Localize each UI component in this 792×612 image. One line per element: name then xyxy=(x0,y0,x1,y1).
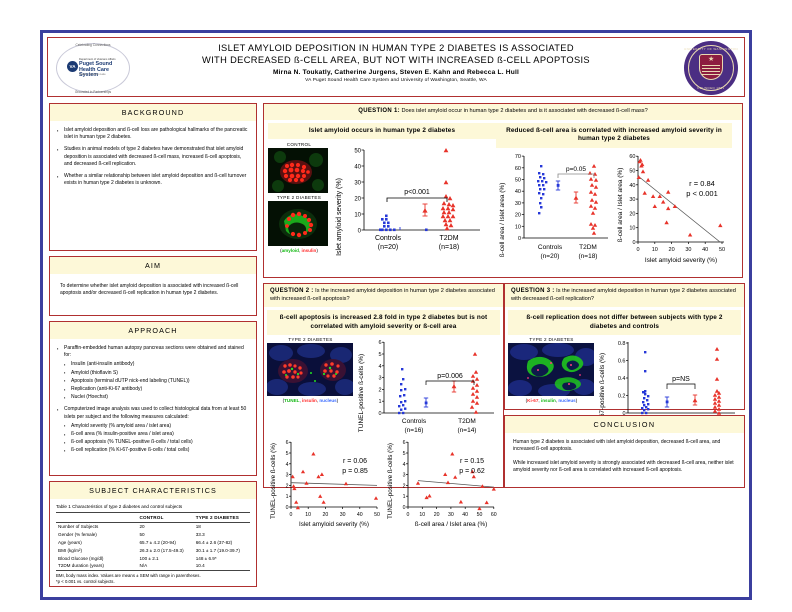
question1-left: Islet amyloid occurs in human type 2 dia… xyxy=(268,123,496,268)
background-bullet-3: Whether a similar relationship between i… xyxy=(57,173,249,187)
subjects-r1-c0: Gender (% female) xyxy=(56,531,137,539)
va-logo-top-text: Celebrating Connections xyxy=(54,43,132,47)
question3-heading: QUESTION 3 : Is the increased amyloid de… xyxy=(505,284,744,307)
question1-right: Reduced ß-cell area is correlated with i… xyxy=(496,123,732,268)
poster-affiliation: VA Puget Sound Health Care System and Un… xyxy=(138,78,654,83)
svg-text:0: 0 xyxy=(358,229,362,235)
va-seal-icon: VA xyxy=(67,61,78,72)
legend-insulin: insulin xyxy=(302,248,317,253)
svg-text:ß-cell area / Islet area (%): ß-cell area / Islet area (%) xyxy=(499,182,506,257)
svg-text:1: 1 xyxy=(286,494,289,500)
poster-authors: Mirna N. Toukatly, Catherine Jurgens, St… xyxy=(138,69,654,76)
chart-bcell-area-svg: ß-cell area / Islet area (%) 01020 30405… xyxy=(496,150,614,268)
approach-bullet-2: Computerized image analysis was used to … xyxy=(57,406,249,454)
svg-text:p=NS: p=NS xyxy=(672,376,690,383)
svg-text:TUNEL-positive ß-cells (%): TUNEL-positive ß-cells (%) xyxy=(358,354,365,432)
svg-text:0.6: 0.6 xyxy=(618,359,626,365)
chart-tunel-vs-amyloid: TUNEL-positive ß-cells (%) 012 3456 xyxy=(267,437,384,529)
svg-text:5: 5 xyxy=(402,451,405,457)
tunel-micrograph-label: TYPE 2 DIABETES xyxy=(267,337,354,342)
svg-text:2: 2 xyxy=(402,483,405,489)
svg-text:30: 30 xyxy=(448,512,454,518)
svg-text:5: 5 xyxy=(286,451,289,457)
subjects-r5-c0: T2DM duration (years) xyxy=(56,562,137,570)
svg-text:p = 0.62: p = 0.62 xyxy=(459,468,485,475)
svg-text:TUNEL-positive ß-cells (%): TUNEL-positive ß-cells (%) xyxy=(270,443,277,519)
chart-amyloid-vs-bcellarea: ß-cell area / Islet area (%) 01020 30405… xyxy=(614,150,730,268)
subjects-r4-c2: 148 ± 6.9* xyxy=(194,554,250,562)
svg-text:r = 0.15: r = 0.15 xyxy=(460,458,484,465)
svg-text:40: 40 xyxy=(629,182,635,188)
subjects-r5-c2: 10.4 xyxy=(194,562,250,570)
svg-text:70: 70 xyxy=(515,154,521,160)
subjects-footnote-2: parentheses. xyxy=(176,573,201,578)
background-body: Islet amyloid deposition and ß-cell loss… xyxy=(50,121,256,198)
question1-legend: (amyloid, insulin) xyxy=(268,248,330,253)
svg-text:50: 50 xyxy=(515,177,521,183)
subjects-footnote-3: *p < 0.001 vs. control subjects. xyxy=(56,579,115,584)
svg-text:20: 20 xyxy=(629,211,635,217)
svg-text:0.4: 0.4 xyxy=(618,376,626,382)
subjects-heading: SUBJECT CHARACTERISTICS xyxy=(50,482,256,499)
question2-label: QUESTION 2 : xyxy=(270,288,314,294)
svg-text:3: 3 xyxy=(378,376,381,382)
svg-text:60: 60 xyxy=(490,512,496,518)
subject-characteristics-panel: SUBJECT CHARACTERISTICS Table 1 Characte… xyxy=(49,481,257,587)
table-row: Gender (% female) 50 33.3 xyxy=(56,531,250,539)
approach-measure-2: ß-cell area (% insulin-positive area / i… xyxy=(64,431,249,438)
background-bullet-1: Islet amyloid deposition and ß-cell loss… xyxy=(57,127,249,141)
svg-text:20: 20 xyxy=(354,197,361,203)
approach-bullet-1-text: Paraffin-embedded human autopsy pancreas… xyxy=(64,345,244,358)
svg-text:3: 3 xyxy=(402,473,405,479)
uw-logo: UNIVERSITY OF WASHINGTON ★ FOUNDED 1861 xyxy=(684,41,738,95)
t2d-micrograph-image xyxy=(268,201,328,246)
uw-shield-bars-icon xyxy=(702,65,720,77)
svg-text:20: 20 xyxy=(515,212,521,218)
svg-text:(n=18): (n=18) xyxy=(439,244,459,251)
chart-tunel-vs-bcellarea: TUNEL-positive ß-cells (%) 012 3456 xyxy=(384,437,501,529)
svg-text:2: 2 xyxy=(378,387,381,393)
svg-text:Islet amyloid severity (%): Islet amyloid severity (%) xyxy=(336,178,343,256)
svg-text:4: 4 xyxy=(378,364,381,370)
svg-text:0: 0 xyxy=(636,247,639,253)
control-micrograph-label: CONTROL xyxy=(268,142,330,147)
question3-legend: (Ki-67, insulin, nucleus) xyxy=(508,398,595,403)
svg-text:2: 2 xyxy=(286,483,289,489)
question1-text: Does islet amyloid occur in human type 2… xyxy=(401,108,647,114)
table-row: Blood Glucose (mg/dl) 100 ± 2.1 148 ± 6.… xyxy=(56,554,250,562)
svg-text:0: 0 xyxy=(402,505,405,511)
va-logo-name: Puget SoundHealth Care System xyxy=(79,62,120,79)
svg-text:10: 10 xyxy=(305,512,311,518)
left-column: BACKGROUND Islet amyloid deposition and … xyxy=(49,103,257,591)
conclusion-paragraph-1: Human type 2 diabetes is associated with… xyxy=(513,439,736,453)
subjects-col-2: TYPE 2 DIABETES xyxy=(194,513,250,523)
q2-legend-tunel: TUNEL xyxy=(284,398,299,403)
svg-text:0: 0 xyxy=(286,505,289,511)
table-row: BMI (kg/m²) 26.3 ± 2.0 (17.5-49.3) 30.1 … xyxy=(56,546,250,554)
approach-measure-1: Amyloid severity (% amyloid area / islet… xyxy=(64,423,249,430)
svg-text:4: 4 xyxy=(286,462,289,468)
control-micrograph-image xyxy=(268,148,328,193)
subjects-r0-c0: Number of Subjects xyxy=(56,523,137,531)
q3-legend-ki67: Ki-67 xyxy=(527,398,538,403)
svg-text:Islet amyloid severity (%): Islet amyloid severity (%) xyxy=(645,257,717,264)
subjects-r0-c1: 20 xyxy=(137,523,193,531)
chart-amyloid-severity: Islet amyloid severity (%) 0 10 20 30 40 xyxy=(330,142,490,257)
approach-stain-2: Amyloid (thioflavin S) xyxy=(64,370,249,377)
svg-text:30: 30 xyxy=(629,197,635,203)
question3-column: QUESTION 3 : Is the increased amyloid de… xyxy=(504,283,745,488)
subjects-footnote-1: BMI, body mass index. Values are means ±… xyxy=(56,573,175,578)
svg-text:40: 40 xyxy=(702,247,708,253)
svg-text:Controls: Controls xyxy=(375,235,402,242)
svg-text:30: 30 xyxy=(685,247,691,253)
question3-panel: QUESTION 3 : Is the increased amyloid de… xyxy=(504,283,745,410)
approach-measure-3: ß-cell apoptosis (% TUNEL-positive ß-cel… xyxy=(64,439,249,446)
approach-heading: APPROACH xyxy=(50,322,256,339)
subjects-r4-c0: Blood Glucose (mg/dl) xyxy=(56,554,137,562)
svg-text:5: 5 xyxy=(378,352,381,358)
table-row: Age (years) 65.7 ± 4.2 (20-94) 66.4 ± 2.… xyxy=(56,539,250,547)
subjects-r0-c2: 18 xyxy=(194,523,250,531)
question1-left-figures: CONTROL xyxy=(268,142,496,257)
svg-text:10: 10 xyxy=(629,225,635,231)
question2-bottom-row: TUNEL-positive ß-cells (%) 012 3456 xyxy=(264,437,503,529)
question2-legend: (TUNEL, insulin, nucleus) xyxy=(267,398,354,403)
svg-text:50: 50 xyxy=(719,247,725,253)
svg-text:10: 10 xyxy=(419,512,425,518)
subjects-r3-c2: 30.1 ± 1.7 (19.0-39.7) xyxy=(194,546,250,554)
question2-top-row: TYPE 2 DIABETES xyxy=(264,335,503,437)
ki67-micrograph-label: TYPE 2 DIABETES xyxy=(508,337,595,342)
question1-panel: QUESTION 1: Does islet amyloid occur in … xyxy=(263,103,743,278)
svg-text:0: 0 xyxy=(518,236,521,242)
subjects-r1-c1: 50 xyxy=(137,531,193,539)
conclusion-panel: CONCLUSION Human type 2 diabetes is asso… xyxy=(504,415,745,488)
question2-micrograph-block: TYPE 2 DIABETES xyxy=(267,337,354,437)
q2-legend-nucleus: nucleus xyxy=(319,398,336,403)
svg-text:0: 0 xyxy=(406,512,409,518)
aim-heading: AIM xyxy=(50,257,256,274)
svg-text:0: 0 xyxy=(378,411,381,417)
svg-text:50: 50 xyxy=(629,168,635,174)
svg-text:30: 30 xyxy=(354,181,361,187)
subjects-caption: Table 1 Characteristics of type 2 diabet… xyxy=(50,499,256,512)
table-header-row: CONTROL TYPE 2 DIABETES xyxy=(56,513,250,523)
svg-text:Controls: Controls xyxy=(402,418,427,425)
poster-title-block: ISLET AMYLOID DEPOSITION IN HUMAN TYPE 2… xyxy=(138,43,654,83)
svg-text:Islet amyloid severity (%): Islet amyloid severity (%) xyxy=(299,521,369,528)
background-bullet-2: Studies in animal models of type 2 diabe… xyxy=(57,146,249,168)
q3-legend-close: ) xyxy=(576,398,578,403)
tunel-micrograph-image xyxy=(267,343,353,396)
svg-text:p=0.05: p=0.05 xyxy=(566,166,586,173)
subjects-r1-c2: 33.3 xyxy=(194,531,250,539)
question3-subhead: ß-cell replication does not differ betwe… xyxy=(508,310,741,335)
subjects-r2-c1: 65.7 ± 4.2 (20-94) xyxy=(137,539,193,547)
svg-text:r = 0.06: r = 0.06 xyxy=(343,458,367,465)
svg-text:ß-cell area / Islet area (%): ß-cell area / Islet area (%) xyxy=(617,167,624,242)
svg-text:6: 6 xyxy=(402,440,405,446)
q2-legend-close: ) xyxy=(337,398,339,403)
uw-star-icon: ★ xyxy=(708,56,714,63)
svg-text:(n=20): (n=20) xyxy=(541,253,560,260)
background-heading: BACKGROUND xyxy=(50,104,256,121)
question2-subhead: ß-cell apoptosis is increased 2.8 fold i… xyxy=(267,310,500,335)
subjects-footnote: BMI, body mass index. Values are means ±… xyxy=(50,571,256,590)
svg-text:40: 40 xyxy=(515,189,521,195)
poster-title-line1: ISLET AMYLOID DEPOSITION IN HUMAN TYPE 2… xyxy=(138,43,654,55)
questions-2-3-row: QUESTION 2 : Is the increased amyloid de… xyxy=(263,283,743,488)
svg-text:(n=14): (n=14) xyxy=(457,427,476,434)
svg-text:p = 0.85: p = 0.85 xyxy=(342,468,368,475)
aim-text: To determine whether islet amyloid depos… xyxy=(50,274,256,306)
conclusion-body: Human type 2 diabetes is associated with… xyxy=(505,433,744,487)
subjects-col-1: CONTROL xyxy=(137,513,193,523)
svg-text:10: 10 xyxy=(652,247,658,253)
svg-text:3: 3 xyxy=(286,473,289,479)
svg-text:ß-cell area / Islet area (%): ß-cell area / Islet area (%) xyxy=(414,521,486,528)
q2-legend-insulin: insulin xyxy=(302,398,317,403)
chart-tunel-vs-bcellarea-svg: TUNEL-positive ß-cells (%) 012 3456 xyxy=(384,437,500,529)
svg-text:60: 60 xyxy=(629,154,635,160)
svg-text:20: 20 xyxy=(323,512,329,518)
subjects-r2-c0: Age (years) xyxy=(56,539,137,547)
svg-text:TUNEL-positive ß-cells (%): TUNEL-positive ß-cells (%) xyxy=(387,443,394,519)
question1-content: Islet amyloid occurs in human type 2 dia… xyxy=(264,120,742,268)
question2-heading: QUESTION 2 : Is the increased amyloid de… xyxy=(264,284,503,307)
uw-logo-ring-bottom: FOUNDED 1861 xyxy=(684,86,738,90)
question1-micrographs: CONTROL xyxy=(268,142,330,257)
right-column: QUESTION 1: Does islet amyloid occur in … xyxy=(263,103,743,591)
question2-panel: QUESTION 2 : Is the increased amyloid de… xyxy=(263,283,504,488)
approach-stain-5: Nuclei (Hoechst) xyxy=(64,394,249,401)
table-row: Number of Subjects 20 18 xyxy=(56,523,250,531)
svg-text:T2DM: T2DM xyxy=(579,244,597,251)
svg-text:40: 40 xyxy=(357,512,363,518)
question1-right-subhead: Reduced ß-cell area is correlated with i… xyxy=(496,123,732,148)
svg-text:6: 6 xyxy=(286,440,289,446)
svg-text:60: 60 xyxy=(515,165,521,171)
approach-body: Paraffin-embedded human autopsy pancreas… xyxy=(50,339,256,466)
approach-stain-4: Replication (anti-Ki-67 antibody) xyxy=(64,386,249,393)
poster-canvas: Celebrating Connections Grounded in Part… xyxy=(40,30,752,600)
svg-text:0: 0 xyxy=(632,240,635,246)
chart-amyloid-severity-svg: Islet amyloid severity (%) 0 10 20 30 40 xyxy=(330,142,490,257)
svg-text:50: 50 xyxy=(354,149,361,155)
svg-text:r = 0.84: r = 0.84 xyxy=(689,179,715,188)
subjects-r4-c1: 100 ± 2.1 xyxy=(137,554,193,562)
question1-heading: QUESTION 1: Does islet amyloid occur in … xyxy=(264,104,742,120)
svg-text:50: 50 xyxy=(476,512,482,518)
chart-tunel-vs-amyloid-svg: TUNEL-positive ß-cells (%) 012 3456 xyxy=(267,437,383,529)
question1-right-figures: ß-cell area / Islet area (%) 01020 30405… xyxy=(496,150,732,268)
svg-text:p=0.006: p=0.006 xyxy=(437,373,463,380)
uw-logo-ring-top: UNIVERSITY OF WASHINGTON xyxy=(684,47,738,51)
svg-text:0.8: 0.8 xyxy=(618,341,626,347)
question1-left-subhead: Islet amyloid occurs in human type 2 dia… xyxy=(268,123,496,140)
conclusion-heading: CONCLUSION xyxy=(505,416,744,433)
ki67-micrograph-image xyxy=(508,343,594,396)
svg-text:6: 6 xyxy=(378,340,381,346)
svg-text:(n=16): (n=16) xyxy=(404,427,423,434)
chart-tunel-dot-svg: TUNEL-positive ß-cells (%) 012 3456 xyxy=(354,337,500,437)
approach-stain-3: Apoptosis (terminal dUTP nick-end labeli… xyxy=(64,378,249,385)
subjects-table: CONTROL TYPE 2 DIABETES Number of Subjec… xyxy=(56,512,250,571)
subjects-r2-c2: 66.4 ± 2.6 (37-82) xyxy=(194,539,250,547)
conclusion-paragraph-2: While increased islet amyloid severity i… xyxy=(513,460,736,474)
svg-text:4: 4 xyxy=(402,462,405,468)
svg-text:10: 10 xyxy=(515,224,521,230)
svg-text:p < 0.001: p < 0.001 xyxy=(686,189,718,198)
svg-text:50: 50 xyxy=(374,512,380,518)
svg-text:p<0.001: p<0.001 xyxy=(404,189,430,196)
q3-legend-insulin: insulin xyxy=(541,398,556,403)
legend-close-paren: ) xyxy=(316,248,318,253)
legend-amyloid: amyloid xyxy=(282,248,299,253)
svg-text:T2DM: T2DM xyxy=(458,418,476,425)
t2d-micrograph-label: TYPE 2 DIABETES xyxy=(268,195,330,200)
table-row: T2DM duration (years) N/A 10.4 xyxy=(56,562,250,570)
subjects-r5-c1: N/A xyxy=(137,562,193,570)
poster-header: Celebrating Connections Grounded in Part… xyxy=(47,37,745,97)
subjects-col-0 xyxy=(56,513,137,523)
chart-tunel-dot: TUNEL-positive ß-cells (%) 012 3456 xyxy=(354,337,500,437)
svg-text:10: 10 xyxy=(354,213,361,219)
background-panel: BACKGROUND Islet amyloid deposition and … xyxy=(49,103,257,251)
approach-stain-1: Insulin (anti-insulin antibody) xyxy=(64,361,249,368)
aim-panel: AIM To determine whether islet amyloid d… xyxy=(49,256,257,316)
svg-text:40: 40 xyxy=(354,165,361,171)
subjects-r3-c0: BMI (kg/m²) xyxy=(56,546,137,554)
chart-amyloid-vs-bcellarea-svg: ß-cell area / Islet area (%) 01020 30405… xyxy=(614,150,730,268)
svg-text:1: 1 xyxy=(378,399,381,405)
question1-label: QUESTION 1: xyxy=(358,108,400,114)
svg-text:20: 20 xyxy=(669,247,675,253)
va-logo: Celebrating Connections Grounded in Part… xyxy=(54,42,132,94)
svg-text:Controls: Controls xyxy=(538,244,563,251)
svg-text:30: 30 xyxy=(515,200,521,206)
svg-text:0: 0 xyxy=(290,512,293,518)
q3-legend-nucleus: nucleus xyxy=(558,398,575,403)
svg-text:1: 1 xyxy=(402,494,405,500)
svg-text:T2DM: T2DM xyxy=(439,235,458,242)
approach-bullet-2-text: Computerized image analysis was used to … xyxy=(64,406,246,419)
svg-text:(n=18): (n=18) xyxy=(579,253,598,260)
poster-title-line2: WITH DECREASED ß-CELL AREA, BUT NOT WITH… xyxy=(138,55,654,67)
subjects-r3-c1: 26.3 ± 2.0 (17.5-49.3) xyxy=(137,546,193,554)
svg-text:30: 30 xyxy=(340,512,346,518)
svg-text:20: 20 xyxy=(433,512,439,518)
va-logo-plate: VA Department of Veterans Affairs Puget … xyxy=(66,58,120,77)
svg-text:40: 40 xyxy=(462,512,468,518)
question3-label: QUESTION 3 : xyxy=(511,288,555,294)
approach-bullet-1: Paraffin-embedded human autopsy pancreas… xyxy=(57,345,249,401)
va-logo-sub: Seattle • American Lake xyxy=(79,73,106,76)
svg-text:(n=20): (n=20) xyxy=(378,244,398,251)
approach-measure-4: ß-cell replication (% Ki-67-positive ß-c… xyxy=(64,447,249,454)
approach-panel: APPROACH Paraffin-embedded human autopsy… xyxy=(49,321,257,476)
chart-bcell-area: ß-cell area / Islet area (%) 01020 30405… xyxy=(496,150,614,268)
va-logo-bottom-text: Grounded in Partnerships xyxy=(54,90,132,94)
svg-text:0.2: 0.2 xyxy=(618,394,626,400)
